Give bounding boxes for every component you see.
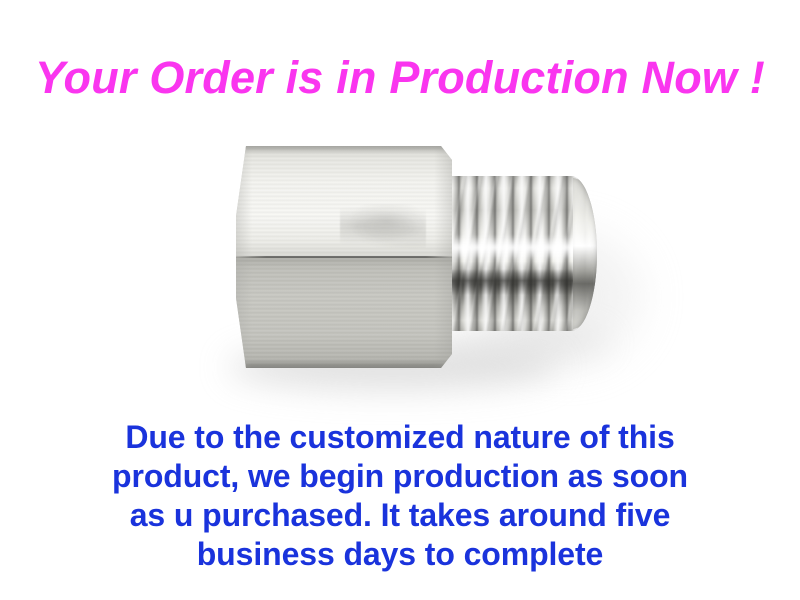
hex-center-edge	[236, 256, 452, 258]
hex-left-corner	[236, 146, 252, 368]
production-notice: Due to the customized nature of this pro…	[0, 418, 800, 574]
thread-specular-band	[447, 235, 587, 260]
notice-line: Due to the customized nature of this	[0, 418, 800, 457]
notice-line: business days to complete	[0, 535, 800, 574]
hex-right-corner	[434, 146, 452, 368]
product-photo	[190, 112, 630, 412]
hex-top-chamfer	[236, 146, 452, 153]
promo-banner: Your Order is in Production Now !	[0, 0, 800, 600]
page-title: Your Order is in Production Now !	[0, 52, 800, 104]
male-threaded-shaft	[445, 176, 597, 331]
hex-tooling-marks	[340, 204, 426, 248]
notice-line: product, we begin production as soon	[0, 457, 800, 496]
notice-line: as u purchased. It takes around five	[0, 496, 800, 535]
thread-shadow-band	[445, 269, 593, 295]
hex-bottom-chamfer	[236, 360, 452, 368]
hex-nut-body	[236, 146, 452, 368]
